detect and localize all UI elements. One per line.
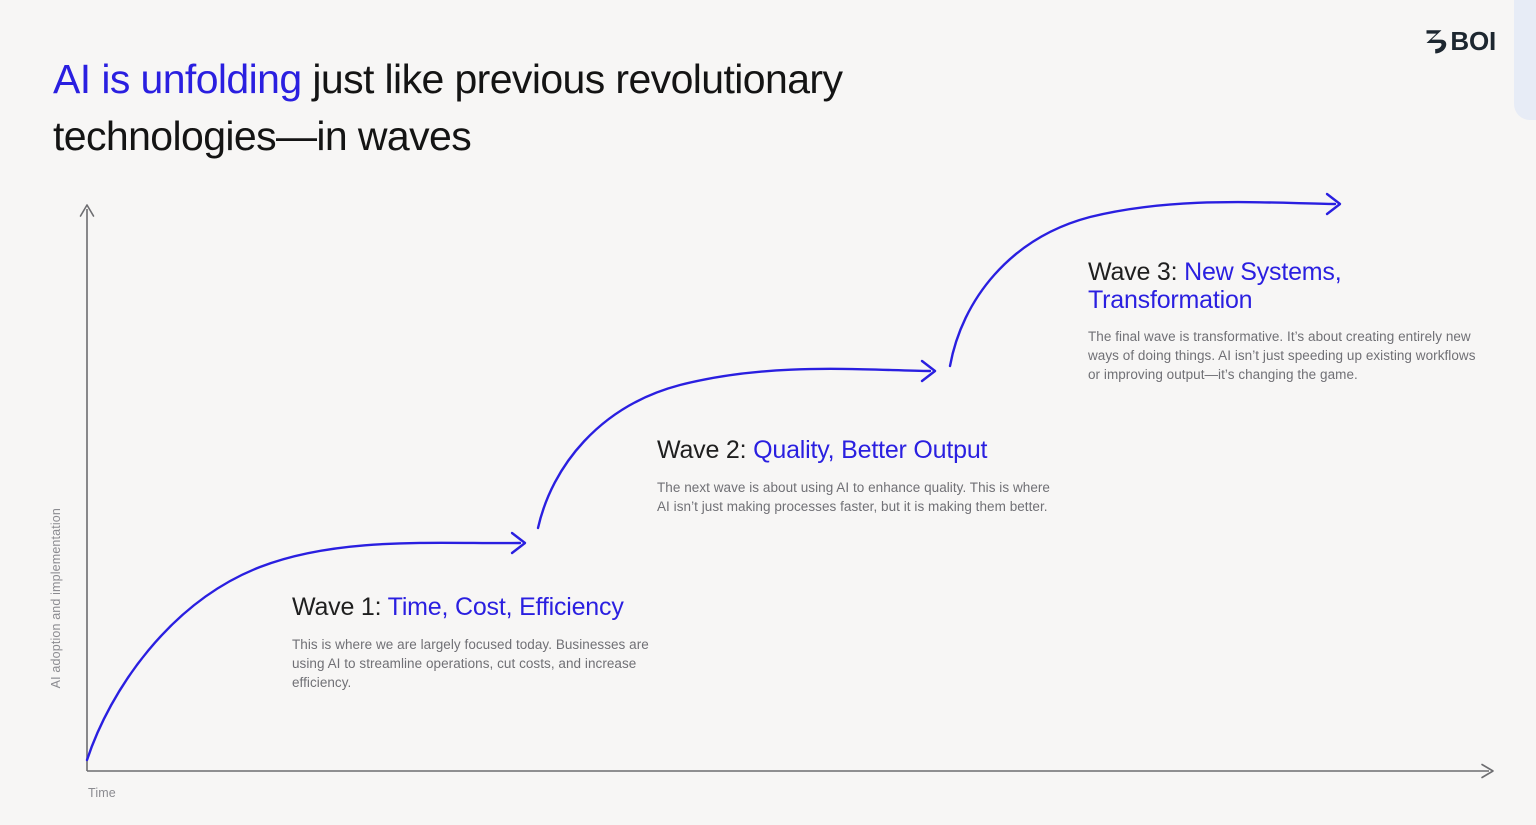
wave-2-annotation: Wave 2: Quality, Better Output The next …	[657, 436, 1067, 516]
brand-wordmark: BOI	[1450, 28, 1496, 54]
wave-2-accent: Quality, Better Output	[753, 436, 987, 464]
wave-3-body: The final wave is transformative. It’s a…	[1088, 327, 1488, 384]
boi-ezh-mark-icon	[1423, 27, 1449, 55]
wave-3-label: Wave 3:	[1088, 258, 1184, 286]
x-axis	[87, 765, 1493, 778]
wave-1-annotation: Wave 1: Time, Cost, Efficiency This is w…	[292, 593, 692, 692]
page-title-accent: AI is unfolding	[53, 56, 302, 102]
wave-1-accent: Time, Cost, Efficiency	[388, 593, 624, 621]
wave-1-title: Wave 1: Time, Cost, Efficiency	[292, 593, 692, 623]
wave-1-body: This is where we are largely focused tod…	[292, 635, 662, 692]
wave-2-title: Wave 2: Quality, Better Output	[657, 436, 1067, 466]
y-axis	[81, 205, 94, 771]
page-title: AI is unfolding just like previous revol…	[53, 51, 1063, 164]
brand-logo: BOI	[1423, 27, 1496, 55]
wave-3-title: Wave 3: New Systems, Transformation	[1088, 259, 1498, 314]
wave-3-annotation: Wave 3: New Systems, Transformation The …	[1088, 259, 1498, 384]
wave-2-label: Wave 2:	[657, 436, 753, 464]
wave-1-label: Wave 1:	[292, 593, 388, 621]
wave-2-body: The next wave is about using AI to enhan…	[657, 478, 1053, 516]
